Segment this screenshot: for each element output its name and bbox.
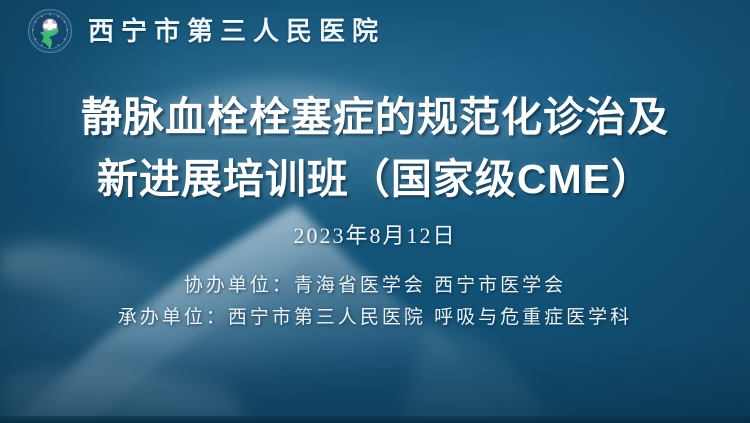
- hospital-name-text: 西宁市第三人民医院: [88, 18, 385, 44]
- co-organizer-line: 协办单位：青海省医学会 西宁市医学会: [118, 270, 632, 302]
- event-title: 静脉血栓栓塞症的规范化诊治及 新进展培训班（国家级CME）: [0, 86, 750, 210]
- event-title-line-2: 新进展培训班（国家级CME）: [0, 148, 750, 210]
- organizer-block: 协办单位：青海省医学会 西宁市医学会 承办单位：西宁市第三人民医院 呼吸与危重症…: [118, 270, 632, 334]
- event-date: 2023年8月12日: [293, 224, 456, 248]
- poster-content: 静脉血栓栓塞症的规范化诊治及 新进展培训班（国家级CME） 2023年8月12日…: [0, 0, 750, 423]
- poster-header: 西宁市第三人民医院: [0, 0, 750, 62]
- event-title-line-1: 静脉血栓栓塞症的规范化诊治及: [0, 86, 750, 148]
- hospital-emblem-icon: [26, 8, 74, 54]
- host-organizer-line: 承办单位：西宁市第三人民医院 呼吸与危重症医学科: [118, 302, 632, 334]
- event-poster: 西宁市第三人民医院 静脉血栓栓塞症的规范化诊治及 新进展培训班（国家级CME） …: [0, 0, 750, 423]
